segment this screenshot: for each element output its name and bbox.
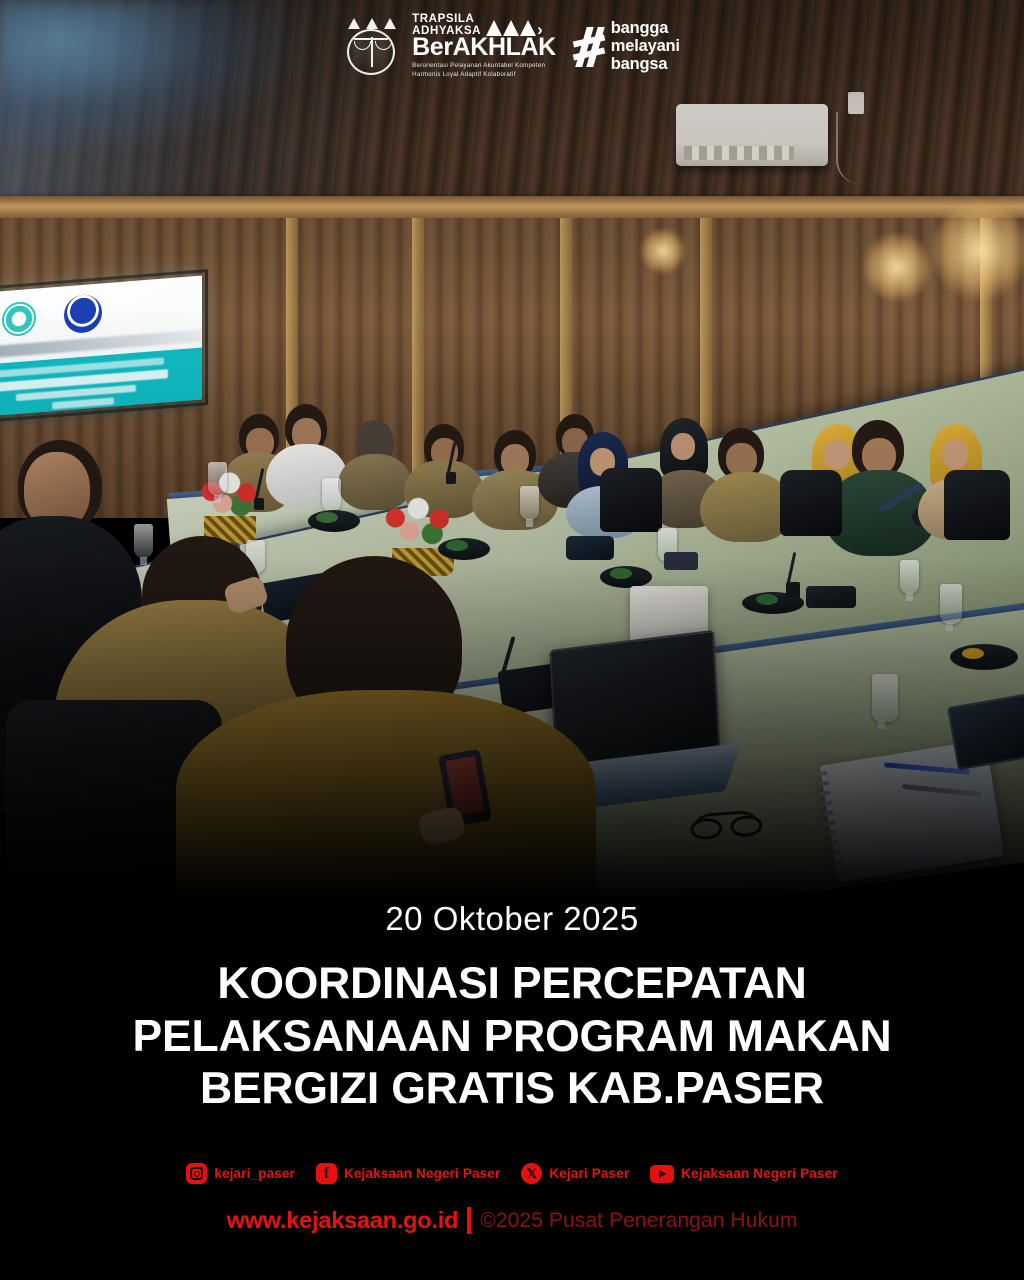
snack-item (316, 512, 338, 523)
social-youtube[interactable]: Kejaksaan Negeri Paser (650, 1165, 837, 1183)
table-microphone (786, 582, 800, 598)
chair (780, 470, 842, 536)
snack-item (962, 648, 984, 659)
header-logo-bar: TRAPSILA ADHYAKSA › BerAKHLAK Berorienta… (0, 8, 1024, 86)
water-glass (520, 486, 539, 520)
bmb-line1: bangga (611, 20, 680, 38)
title-line-2: PELAKSANAAN PROGRAM MAKAN (20, 1011, 1004, 1064)
title-line-1: KOORDINASI PERCEPATAN (20, 958, 1004, 1011)
speaker-face (862, 438, 896, 474)
chair (600, 468, 662, 532)
attendee-face (671, 433, 695, 460)
ceiling-light (640, 228, 686, 274)
website-url[interactable]: www.kejaksaan.go.id (227, 1207, 459, 1234)
x-twitter-icon[interactable]: 𝕏 (521, 1163, 542, 1184)
attendee-face (942, 440, 968, 469)
slide-logo-right (64, 293, 102, 334)
social-media-bar: kejari_paser f Kejaksaan Negeri Paser 𝕏 … (0, 1163, 1024, 1184)
footer-bottom-line: www.kejaksaan.go.id ©2025 Pusat Penerang… (0, 1207, 1024, 1234)
table-microphone (254, 498, 264, 510)
tablet-device (947, 694, 1024, 771)
youtube-handle: Kejaksaan Negeri Paser (681, 1166, 837, 1181)
water-glass (940, 584, 962, 624)
social-instagram[interactable]: kejari_paser (186, 1163, 295, 1184)
power-cord (836, 112, 860, 184)
ceiling-light (862, 232, 932, 302)
title-line-3: BERGIZI GRATIS KAB.PASER (20, 1063, 1004, 1116)
snack-item (756, 594, 778, 605)
berakhlak-wordmark: BerAKHLAK (412, 35, 556, 60)
instagram-handle: kejari_paser (214, 1166, 295, 1181)
snack-plate (950, 644, 1018, 670)
berakhlak-logo: TRAPSILA ADHYAKSA › BerAKHLAK Berorienta… (412, 14, 556, 80)
snack-item (610, 568, 632, 579)
x-handle: Kejari Paser (549, 1166, 629, 1181)
event-date: 20 Oktober 2025 (0, 900, 1024, 938)
berakhlak-sub1: Berorientasi Pelayanan Akuntabel Kompete… (412, 62, 556, 71)
window-light (932, 196, 1024, 304)
eyeglass-case (566, 536, 614, 560)
chair (944, 470, 1010, 540)
presentation-screen (0, 276, 202, 417)
table-microphone (446, 472, 456, 484)
slide-logo-left (2, 301, 36, 338)
page-title: KOORDINASI PERCEPATAN PELAKSANAAN PROGRA… (0, 958, 1024, 1116)
water-glass (134, 524, 153, 558)
berakhlak-sub2: Harmonis Loyal Adaptif Kolaboratif (412, 71, 556, 80)
smartphone (664, 552, 698, 570)
event-photo (0, 0, 1024, 900)
water-glass (322, 478, 341, 512)
bangga-melayani-bangsa-logo: bangga melayani bangsa (574, 20, 680, 73)
hash-icon (574, 27, 604, 67)
copyright-text: ©2025 Pusat Penerangan Hukum (480, 1209, 797, 1233)
air-conditioner (676, 104, 828, 166)
foreground-person-body (176, 690, 596, 900)
poster-canvas: TRAPSILA ADHYAKSA › BerAKHLAK Berorienta… (0, 0, 1024, 1280)
facebook-handle: Kejaksaan Negeri Paser (344, 1166, 500, 1181)
caption-block: 20 Oktober 2025 KOORDINASI PERCEPATAN PE… (0, 900, 1024, 1116)
instagram-icon[interactable] (186, 1163, 207, 1184)
facebook-icon[interactable]: f (316, 1163, 337, 1184)
snack-item (446, 540, 468, 551)
water-glass (900, 560, 919, 594)
seal-daggers (348, 18, 396, 29)
social-facebook[interactable]: f Kejaksaan Negeri Paser (316, 1163, 500, 1184)
wall-socket (848, 92, 864, 114)
kejaksaan-seal-icon (344, 18, 400, 76)
attendee-face (824, 440, 850, 469)
youtube-icon[interactable] (650, 1165, 674, 1183)
bmb-line2: melayani (611, 38, 680, 56)
water-glass (872, 674, 898, 722)
power-adapter (806, 586, 856, 608)
social-x[interactable]: 𝕏 Kejari Paser (521, 1163, 629, 1184)
water-glass (208, 462, 227, 496)
bmb-line3: bangsa (611, 56, 680, 74)
trapsila-line1: TRAPSILA (412, 14, 481, 26)
footer-separator (467, 1207, 471, 1234)
